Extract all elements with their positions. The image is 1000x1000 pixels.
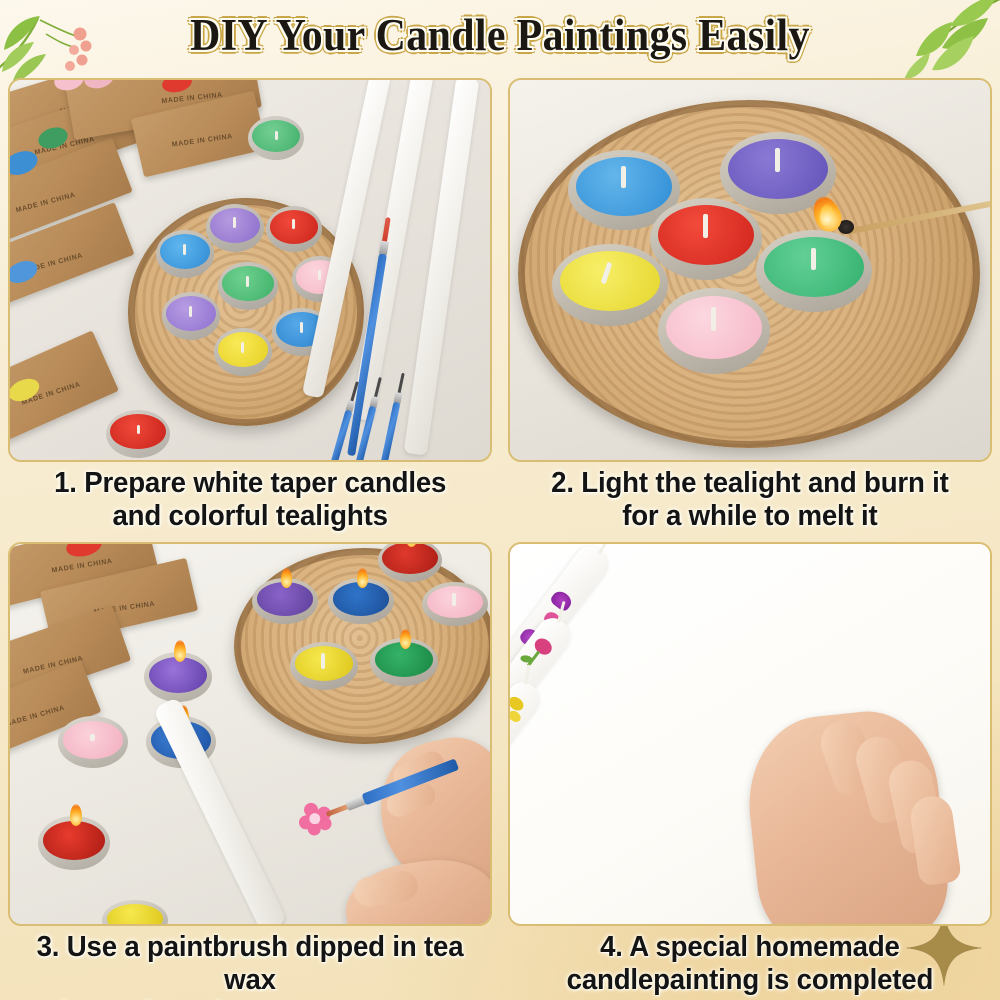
photo-step3-painting: MADE IN CHINA MADE IN CHINA MADE IN CHIN… — [8, 542, 492, 926]
step-card-4: 4. A special homemade candlepainting is … — [500, 536, 1000, 1000]
header-banner: DIY Your Candle Paintings Easily — [0, 0, 1000, 72]
box-label: MADE IN CHINA — [15, 192, 76, 215]
caption-step-4: 4. A special homemade candlepainting is … — [510, 930, 990, 998]
caption-step-2: 2. Light the tealight and burn it for a … — [510, 466, 990, 534]
caption-step-3: 3. Use a paintbrush dipped in tea wax pa… — [10, 930, 490, 998]
box-label: MADE IN CHINA — [51, 558, 113, 575]
box-label: MADE IN CHINA — [8, 705, 66, 729]
steps-grid: MADE IN CHINA MADE IN CHINA MADE IN CHIN… — [0, 72, 1000, 1000]
step-card-1: MADE IN CHINA MADE IN CHINA MADE IN CHIN… — [0, 72, 500, 536]
photo-step2-lighting — [508, 78, 992, 462]
painted-candle-yellow-flowers — [508, 676, 546, 926]
caption-line-2: and colorful tealights — [54, 500, 446, 533]
caption-line-1: 3. Use a paintbrush dipped in tea wax — [17, 931, 483, 997]
caption-line-1: 1. Prepare white taper candles — [54, 467, 446, 500]
lit-match-icon — [810, 190, 992, 240]
caption-line-1: 2. Light the tealight and burn it — [551, 467, 949, 500]
caption-line-1: 4. A special homemade — [567, 931, 934, 964]
painted-candle-pink-flowers — [508, 612, 577, 896]
page-title: DIY Your Candle Paintings Easily — [35, 6, 965, 64]
photo-step1-supplies: MADE IN CHINA MADE IN CHINA MADE IN CHIN… — [8, 78, 492, 462]
caption-step-1: 1. Prepare white taper candles and color… — [10, 466, 490, 534]
step-card-3: MADE IN CHINA MADE IN CHINA MADE IN CHIN… — [0, 536, 500, 1000]
photo-step4-finished — [508, 542, 992, 926]
caption-line-2: candlepainting is completed — [567, 964, 934, 997]
caption-line-2: for a while to melt it — [551, 500, 949, 533]
step-card-2: 2. Light the tealight and burn it for a … — [500, 72, 1000, 536]
box-label: MADE IN CHINA — [171, 133, 233, 148]
